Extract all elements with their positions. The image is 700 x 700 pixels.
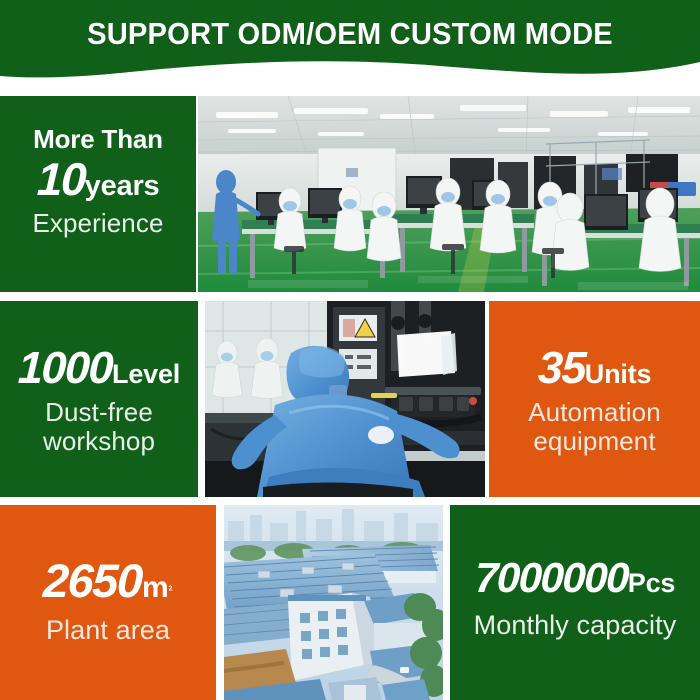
stat-dust-caption-line2: workshop: [12, 427, 186, 456]
stat-card-monthly-capacity: 7000000Pcs Monthly capacity: [450, 505, 700, 700]
stat-card-dust-free: 1000Level Dust-free workshop: [0, 301, 198, 497]
stat-years-unit: years: [85, 172, 160, 202]
stat-dust-unit: Level: [112, 361, 180, 389]
photo-factory-aerial: [224, 505, 443, 700]
stat-years-caption: Experience: [12, 209, 184, 238]
stat-auto-value-line: 35Units: [501, 345, 688, 391]
stat-auto-caption-line1: Automation: [501, 398, 688, 427]
stat-auto-caption-line2: equipment: [501, 427, 688, 456]
stat-plant-unit-superscript: 2: [169, 584, 173, 593]
stat-plant-unit: m: [142, 573, 168, 604]
stat-cap-value-line: 7000000Pcs: [462, 557, 688, 600]
stat-card-years: More Than 10years Experience: [0, 96, 196, 292]
stat-content-automation: 35Units Automation equipment: [489, 345, 700, 456]
stat-years-value: 10: [36, 156, 86, 203]
stat-content-years: More Than 10years Experience: [0, 124, 196, 238]
stat-content-monthly-capacity: 7000000Pcs Monthly capacity: [450, 557, 700, 640]
infographic-page: SUPPORT ODM/OEM CUSTOM MODE More Than 10…: [0, 0, 700, 700]
stat-years-value-line: 10years: [12, 156, 184, 203]
stat-content-plant-area: 2650m2 Plant area: [0, 557, 216, 645]
stat-plant-value-line: 2650m2: [12, 557, 204, 605]
stat-plant-value: 2650: [43, 557, 143, 605]
inspection-station-illustration: [205, 301, 485, 497]
stat-cap-caption: Monthly capacity: [462, 610, 688, 640]
stat-dust-caption-line1: Dust-free: [12, 398, 186, 427]
stat-card-automation: 35Units Automation equipment: [489, 301, 700, 497]
production-line-illustration: [198, 96, 700, 292]
stat-cap-unit: Pcs: [628, 570, 675, 598]
stat-dust-value-line: 1000Level: [12, 345, 186, 391]
stat-card-plant-area: 2650m2 Plant area: [0, 505, 216, 700]
stat-content-dust-free: 1000Level Dust-free workshop: [0, 345, 198, 456]
stat-cap-value: 7000000: [474, 557, 629, 600]
stat-years-top-label: More Than: [12, 124, 184, 154]
page-title: SUPPORT ODM/OEM CUSTOM MODE: [21, 14, 679, 54]
photo-inspection-station: [205, 301, 485, 497]
header-banner: SUPPORT ODM/OEM CUSTOM MODE: [0, 0, 700, 88]
stat-dust-value: 1000: [17, 345, 113, 391]
stat-auto-value: 35: [537, 345, 586, 391]
stat-plant-caption: Plant area: [12, 615, 204, 645]
factory-aerial-illustration: [224, 505, 443, 700]
photo-production-line: [198, 96, 700, 292]
stat-auto-unit: Units: [585, 361, 652, 389]
